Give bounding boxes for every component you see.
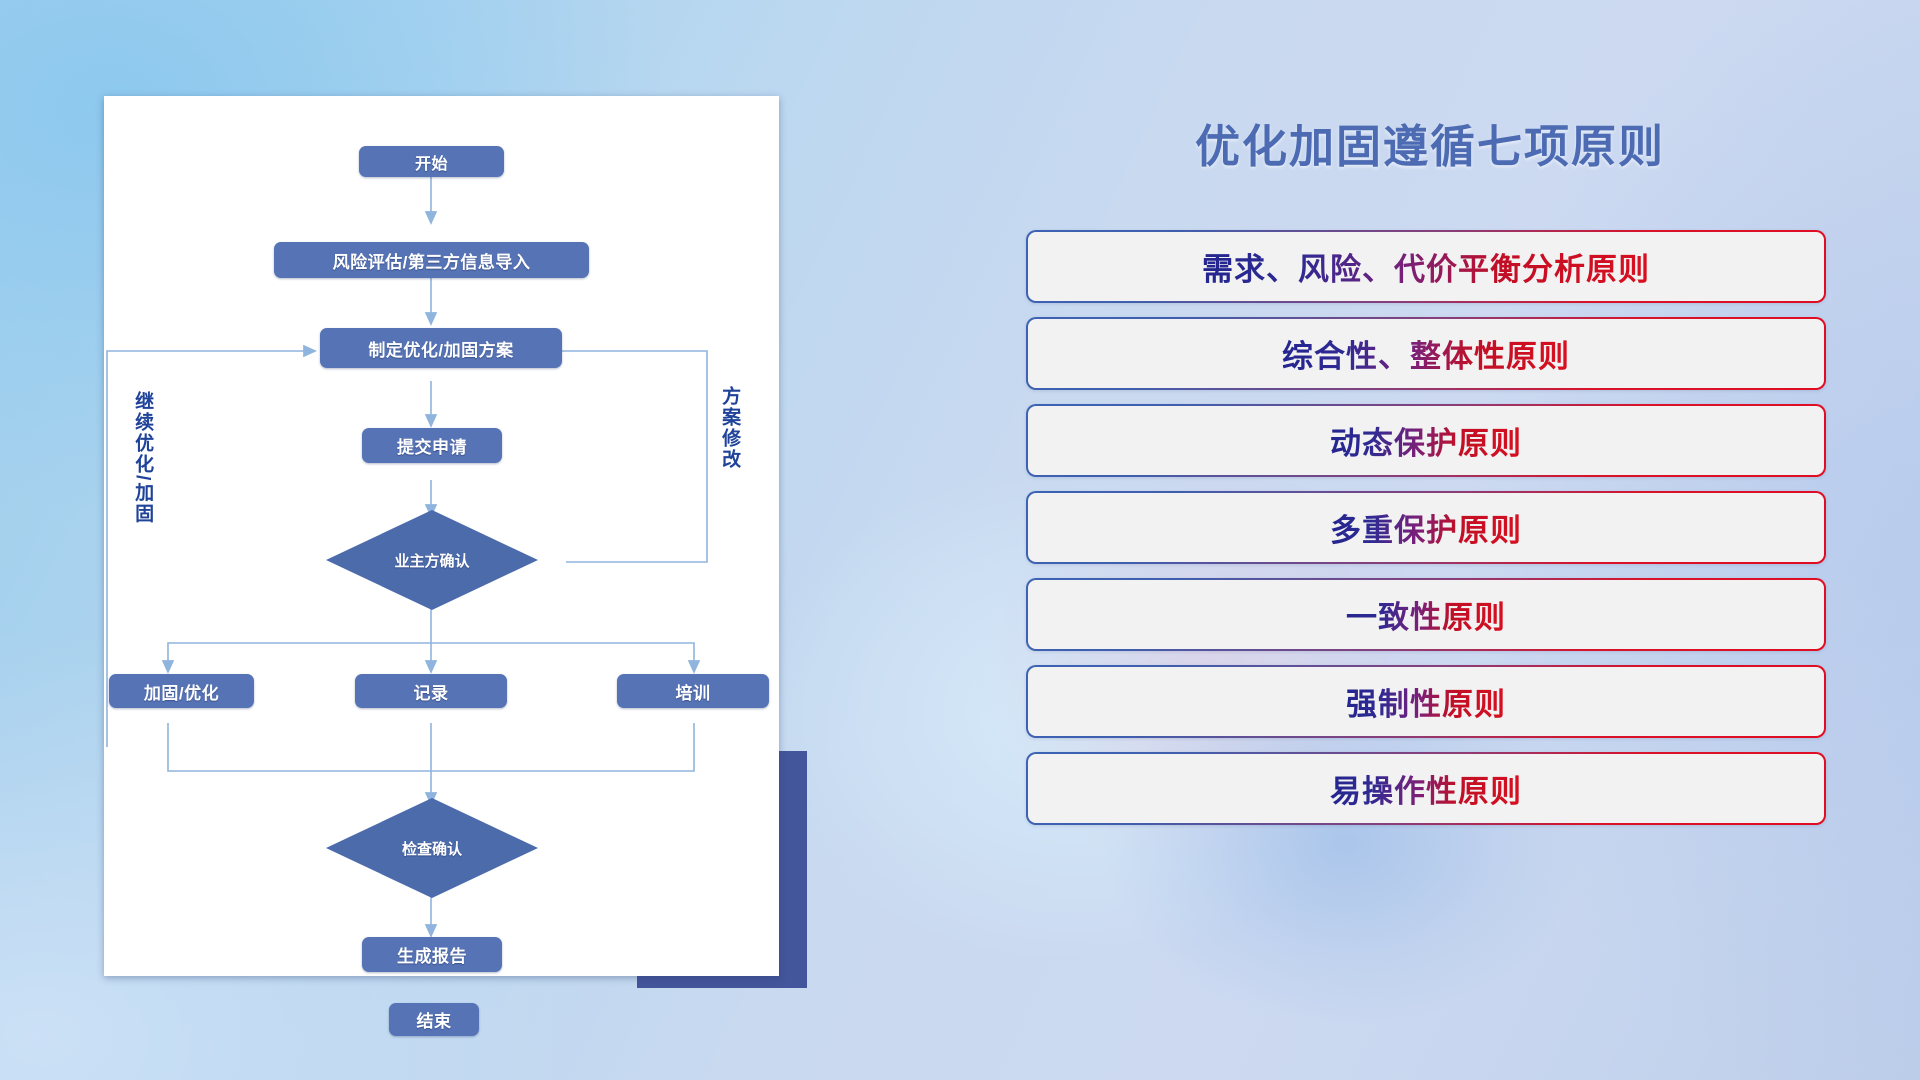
flow-edge-label-plan-revision: 方案修改: [719, 386, 739, 470]
principle-item-6-label: 强制性原则: [1346, 679, 1506, 724]
flow-node-report-label: 生成报告: [397, 942, 467, 967]
flow-node-training-label: 培训: [676, 679, 711, 704]
principle-item-5-label: 一致性原则: [1346, 592, 1506, 637]
principle-item-7[interactable]: 易操作性原则: [1026, 752, 1826, 825]
flow-decision-check-confirm-label: 检查确认: [402, 838, 462, 859]
flow-edge-label-continue-optimize: 继续优化/加固: [132, 391, 152, 524]
principle-item-5[interactable]: 一致性原则: [1026, 578, 1826, 651]
flow-decision-owner-confirm-label: 业主方确认: [394, 550, 469, 571]
flow-node-report[interactable]: 生成报告: [362, 937, 502, 972]
flow-node-submit-label: 提交申请: [397, 433, 467, 458]
page-title: 优化加固遵循七项原则: [1010, 110, 1850, 175]
principle-item-1[interactable]: 需求、风险、代价平衡分析原则: [1026, 230, 1826, 303]
flow-node-record[interactable]: 记录: [355, 674, 507, 708]
flow-node-plan-label: 制定优化/加固方案: [368, 336, 513, 361]
principles-panel: 优化加固遵循七项原则 需求、风险、代价平衡分析原则 综合性、整体性原则 动态保护…: [1010, 0, 1850, 1080]
flow-node-reinforce[interactable]: 加固/优化: [109, 674, 254, 708]
flow-node-plan[interactable]: 制定优化/加固方案: [320, 328, 562, 368]
flow-decision-check-confirm[interactable]: 检查确认: [326, 798, 538, 898]
principle-item-7-label: 易操作性原则: [1330, 766, 1522, 811]
principle-item-4-label: 多重保护原则: [1330, 505, 1522, 550]
flow-node-training[interactable]: 培训: [617, 674, 769, 708]
principle-item-2-label: 综合性、整体性原则: [1282, 331, 1570, 376]
flow-node-start[interactable]: 开始: [359, 146, 504, 177]
flow-node-start-label: 开始: [415, 150, 448, 174]
flow-node-risk-assessment-label: 风险评估/第三方信息导入: [333, 248, 531, 273]
flow-node-reinforce-label: 加固/优化: [144, 679, 219, 704]
principle-item-2[interactable]: 综合性、整体性原则: [1026, 317, 1826, 390]
principle-item-3[interactable]: 动态保护原则: [1026, 404, 1826, 477]
flow-node-end[interactable]: 结束: [389, 1003, 479, 1036]
flow-node-submit[interactable]: 提交申请: [362, 428, 502, 463]
principle-item-4[interactable]: 多重保护原则: [1026, 491, 1826, 564]
flow-node-record-label: 记录: [414, 679, 449, 704]
principle-item-6[interactable]: 强制性原则: [1026, 665, 1826, 738]
flow-node-risk-assessment[interactable]: 风险评估/第三方信息导入: [274, 242, 589, 278]
principle-item-3-label: 动态保护原则: [1330, 418, 1522, 463]
flowchart-card: 开始 风险评估/第三方信息导入 制定优化/加固方案 提交申请 业主方确认 加固/…: [104, 96, 779, 976]
flow-node-end-label: 结束: [417, 1007, 452, 1032]
principle-item-1-label: 需求、风险、代价平衡分析原则: [1202, 244, 1650, 289]
flow-decision-owner-confirm[interactable]: 业主方确认: [326, 510, 538, 610]
principles-list: 需求、风险、代价平衡分析原则 综合性、整体性原则 动态保护原则 多重保护原则 一…: [1026, 230, 1826, 839]
